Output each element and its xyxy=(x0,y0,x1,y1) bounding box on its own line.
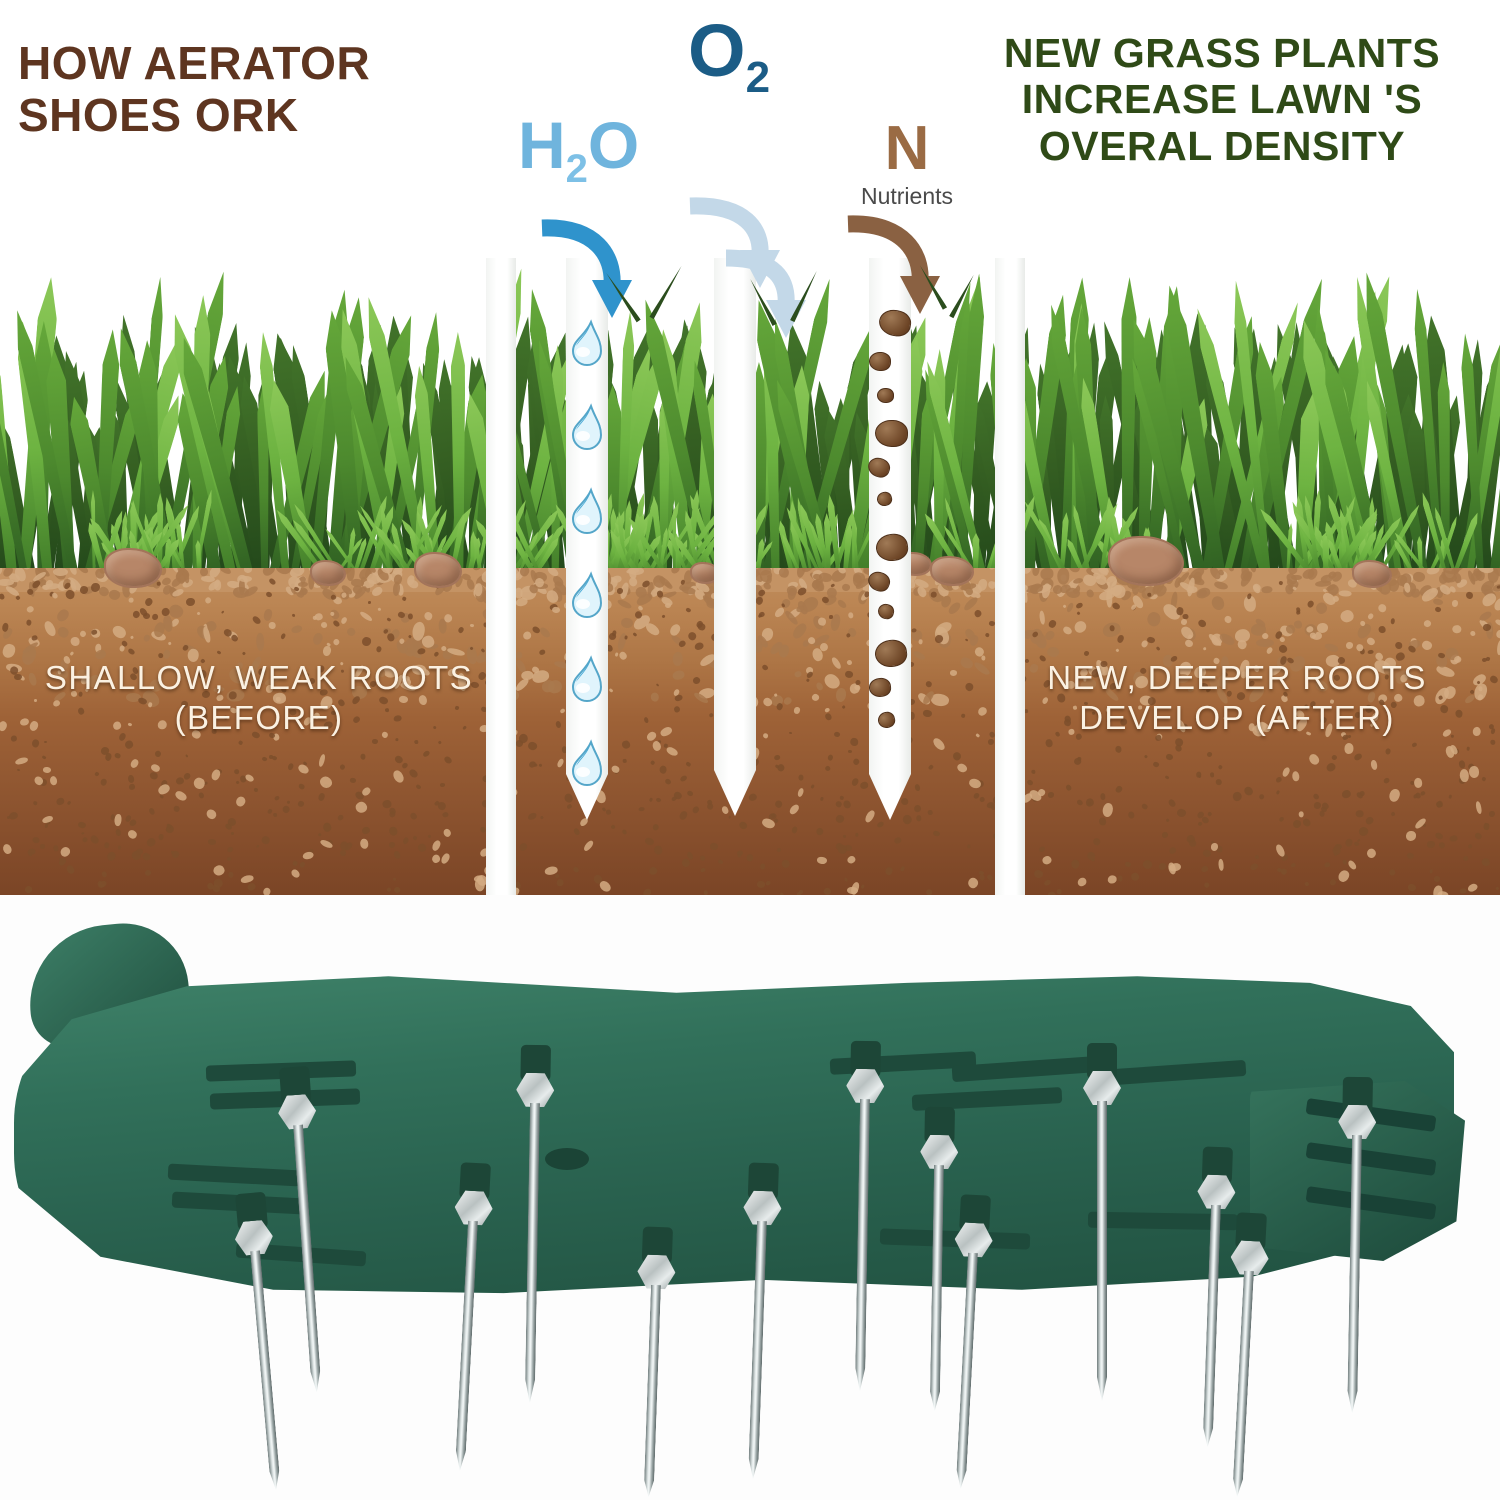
soil-pebble xyxy=(106,851,118,863)
soil-pebble xyxy=(292,614,295,618)
soil-pebble xyxy=(967,844,971,848)
soil-pebble xyxy=(81,832,85,835)
soil-pebble xyxy=(33,800,38,805)
soil-pebble xyxy=(984,632,989,637)
soil-pebble xyxy=(1243,785,1255,797)
soil-pebble xyxy=(417,648,426,655)
soil-pebble xyxy=(1438,842,1446,850)
soil-pebble xyxy=(1100,794,1105,801)
soil-pebble xyxy=(820,796,824,800)
soil-pebble xyxy=(654,845,663,854)
soil-pebble xyxy=(844,878,848,883)
soil-pebble xyxy=(280,632,287,639)
soil-pebble xyxy=(217,650,222,655)
soil-pebble xyxy=(678,809,689,820)
soil-pebble xyxy=(32,739,40,748)
channel-plain-right xyxy=(995,258,1025,895)
soil-pebble xyxy=(41,815,53,824)
soil-pebble xyxy=(1146,611,1162,628)
soil-pebble xyxy=(272,755,278,761)
soil-pebble xyxy=(664,778,672,786)
soil-pebble xyxy=(831,656,843,670)
nutrient-flow-arrow xyxy=(838,212,950,320)
soil-pebble xyxy=(1040,568,1054,580)
soil-pebble xyxy=(1427,841,1435,848)
soil-pebble xyxy=(1336,868,1351,883)
soil-pebble xyxy=(685,607,691,613)
soil-pebble xyxy=(673,670,686,680)
soil-pebble xyxy=(814,681,824,692)
soil-pebble xyxy=(1344,838,1354,848)
soil-pebble xyxy=(847,855,857,865)
soil-pebble xyxy=(1297,607,1301,612)
soil-pebble xyxy=(59,858,62,860)
soil-pebble xyxy=(298,783,305,790)
soil-pebble xyxy=(729,815,732,818)
soil-pebble xyxy=(973,661,991,677)
soil-pebble xyxy=(1261,586,1273,593)
soil-pebble xyxy=(1162,832,1168,838)
soil-pebble xyxy=(811,784,815,789)
soil-pebble xyxy=(1128,812,1135,819)
soil-pebble xyxy=(1046,739,1054,748)
soil-pebble xyxy=(1489,740,1495,746)
soil-pebble xyxy=(1429,869,1432,874)
soil-pebble xyxy=(788,804,800,817)
soil-pebble xyxy=(691,805,700,814)
soil-pebble xyxy=(1278,816,1284,822)
soil-pebble xyxy=(149,772,158,781)
soil-pebble xyxy=(790,621,809,641)
soil-pebble xyxy=(457,626,464,634)
soil-pebble xyxy=(198,792,205,800)
soil-pebble xyxy=(389,842,396,849)
soil-pebble xyxy=(269,622,276,629)
soil-pebble xyxy=(964,639,968,643)
soil-pebble xyxy=(1482,776,1487,781)
soil-pebble xyxy=(1275,775,1283,782)
soil-pebble xyxy=(1406,831,1417,841)
soil-pebble xyxy=(1467,843,1472,849)
soil-pebble xyxy=(1366,636,1376,646)
soil-pebble xyxy=(1420,640,1433,652)
soil-pebble xyxy=(51,592,58,599)
soil-pebble xyxy=(401,762,409,770)
surface-rock xyxy=(414,552,462,588)
nutrient-pellet xyxy=(875,420,909,448)
soil-pebble xyxy=(1317,623,1328,633)
soil-pebble xyxy=(77,821,86,829)
soil-pebble xyxy=(829,615,833,619)
soil-pebble xyxy=(1158,862,1167,871)
surface-rock xyxy=(104,548,162,588)
soil-pebble xyxy=(332,619,340,627)
soil-pebble xyxy=(0,593,5,600)
soil-pebble xyxy=(835,813,846,823)
water-droplet xyxy=(565,738,609,790)
soil-pebble xyxy=(659,765,668,774)
soil-pebble xyxy=(665,746,679,758)
soil-pebble xyxy=(538,649,545,655)
soil-pebble xyxy=(1412,742,1418,747)
aerator-spike xyxy=(624,1226,682,1500)
soil-pebble xyxy=(1496,630,1500,640)
soil-pebble xyxy=(686,790,694,798)
soil-pebble xyxy=(1203,647,1207,651)
soil-pebble xyxy=(142,852,152,861)
soil-pebble xyxy=(621,829,627,835)
soil-pebble xyxy=(144,869,153,877)
soil-pebble xyxy=(1306,599,1315,608)
nutrients-caption: Nutrients xyxy=(822,183,992,210)
soil-pebble xyxy=(1107,875,1117,884)
soil-pebble xyxy=(1085,797,1095,807)
soil-pebble xyxy=(94,771,99,776)
soil-pebble xyxy=(1062,625,1073,636)
soil-pebble xyxy=(675,694,684,702)
soil-pebble xyxy=(655,683,659,687)
soil-pebble xyxy=(1388,869,1396,877)
soil-pebble xyxy=(1115,745,1122,752)
soil-pebble xyxy=(697,622,707,631)
soil-pebble xyxy=(1048,792,1055,798)
soil-pebble xyxy=(1310,632,1316,639)
soil-pebble xyxy=(1279,636,1285,642)
soil-pebble xyxy=(557,878,565,886)
soil-pebble xyxy=(1258,792,1265,799)
soil-pebble xyxy=(312,615,316,619)
soil-pebble xyxy=(1451,600,1457,607)
soil-pebble xyxy=(143,596,153,606)
soil-pebble xyxy=(1368,650,1374,654)
soil-pebble xyxy=(272,813,276,818)
soil-pebble xyxy=(392,850,401,860)
soil-pebble xyxy=(835,687,846,701)
channel-plain-left xyxy=(486,258,516,895)
soil-pebble xyxy=(372,739,378,745)
soil-pebble xyxy=(894,837,903,845)
soil-pebble xyxy=(1494,619,1500,628)
soil-pebble xyxy=(297,800,305,808)
soil-pebble xyxy=(691,676,701,686)
soil-pebble xyxy=(927,809,932,814)
soil-pebble xyxy=(354,799,369,814)
soil-pebble xyxy=(598,879,613,894)
soil-pebble xyxy=(437,740,442,744)
soil-pebble xyxy=(1033,869,1044,880)
soil-pebble xyxy=(1291,770,1300,781)
water-droplet xyxy=(565,318,609,370)
soil-pebble xyxy=(1207,812,1212,817)
soil-pebble xyxy=(311,631,324,645)
spike-shaft xyxy=(1232,1271,1254,1497)
soil-pebble xyxy=(1353,841,1360,847)
soil-pebble xyxy=(1391,812,1396,817)
soil-pebble xyxy=(859,781,868,789)
soil-pebble xyxy=(1038,846,1045,853)
soil-pebble xyxy=(987,873,994,881)
soil-pebble xyxy=(167,641,171,645)
soil-pebble xyxy=(1091,837,1101,846)
soil-pebble xyxy=(1450,834,1458,841)
soil-pebble xyxy=(1,842,13,855)
soil-pebble xyxy=(521,671,533,680)
soil-pebble xyxy=(71,637,80,646)
soil-pebble xyxy=(707,802,714,810)
aerator-spike xyxy=(1078,1043,1126,1409)
soil-pebble xyxy=(297,763,310,776)
soil-pebble xyxy=(42,767,51,774)
soil-pebble xyxy=(644,717,650,724)
soil-pebble xyxy=(1370,760,1377,771)
soil-pebble xyxy=(439,782,444,787)
soil-pebble xyxy=(672,705,680,714)
nitrogen-label: N xyxy=(862,118,952,180)
soil-pebble xyxy=(826,753,833,761)
h2o-o: O xyxy=(588,108,639,182)
soil-pebble xyxy=(442,828,452,838)
nutrient-pellet xyxy=(869,352,892,372)
soil-pebble xyxy=(1280,868,1288,876)
soil-pebble xyxy=(1353,753,1363,762)
soil-pebble xyxy=(843,835,847,839)
soil-pebble xyxy=(976,733,981,738)
soil-pebble xyxy=(282,805,291,814)
soil-pebble xyxy=(251,615,262,626)
soil-pebble xyxy=(1188,839,1197,848)
soil-pebble xyxy=(1473,727,1482,737)
soil-pebble xyxy=(1470,631,1476,637)
soil-pebble xyxy=(387,617,392,621)
soil-pebble xyxy=(1210,772,1214,777)
soil-pebble xyxy=(1339,590,1352,596)
soil-pebble xyxy=(152,614,159,621)
soil-pebble xyxy=(877,820,885,828)
soil-pebble xyxy=(414,739,419,744)
soil-pebble xyxy=(709,712,714,717)
soil-pebble xyxy=(1394,641,1402,649)
soil-pebble xyxy=(652,823,659,831)
soil-pebble xyxy=(774,755,781,761)
soil-pebble xyxy=(1155,646,1160,651)
soil-pebble xyxy=(1433,875,1441,883)
soil-pebble xyxy=(606,809,612,815)
soil-pebble xyxy=(127,648,135,656)
soil-pebble xyxy=(847,887,858,895)
soil-pebble xyxy=(154,750,162,758)
soil-pebble xyxy=(443,811,450,818)
soil-pebble xyxy=(290,868,301,879)
soil-pebble xyxy=(864,809,876,823)
soil-pebble xyxy=(1307,752,1321,766)
surface-rock xyxy=(930,556,974,586)
soil-pebble xyxy=(1484,823,1490,831)
h2o-h: H xyxy=(518,108,566,182)
soil-pebble xyxy=(649,798,653,803)
aerator-spike xyxy=(729,1162,788,1487)
soil-pebble xyxy=(979,796,985,802)
soil-pebble xyxy=(104,842,110,849)
caption-before-roots: SHALLOW, WEAK ROOTS (BEFORE) xyxy=(24,658,494,739)
soil-pebble xyxy=(665,603,671,608)
soil-pebble xyxy=(115,813,123,826)
soil-pebble xyxy=(254,788,258,792)
soil-pebble xyxy=(1110,625,1115,631)
soil-pebble xyxy=(209,768,221,782)
soil-pebble xyxy=(129,598,134,603)
soil-pebble xyxy=(1071,619,1087,635)
soil-pebble xyxy=(1168,847,1177,856)
soil-pebble xyxy=(563,793,573,804)
caption-after-roots: NEW, DEEPER ROOTS DEVELOP (AFTER) xyxy=(1002,658,1472,739)
soil-pebble xyxy=(531,625,542,635)
soil-pebble xyxy=(345,626,356,637)
spike-shaft xyxy=(250,1250,281,1490)
soil-pebble xyxy=(1329,879,1336,886)
soil-pebble xyxy=(1319,810,1325,816)
soil-pebble xyxy=(916,815,921,821)
soil-pebble xyxy=(1115,784,1124,793)
soil-pebble xyxy=(1144,755,1149,760)
soil-pebble xyxy=(1384,748,1391,755)
soil-pebble xyxy=(1207,751,1213,757)
soil-pebble xyxy=(540,816,544,820)
soil-pebble xyxy=(843,846,847,850)
soil-pebble xyxy=(774,800,783,810)
soil-pebble xyxy=(378,607,382,611)
soil-pebble xyxy=(339,764,346,771)
soil-pebble xyxy=(1041,854,1052,865)
soil-pebble xyxy=(94,568,105,579)
spike-shaft xyxy=(956,1253,978,1489)
soil-pebble xyxy=(322,646,331,657)
soil-pebble xyxy=(899,866,905,872)
soil-pebble xyxy=(825,712,833,721)
aerator-spike xyxy=(836,1041,890,1400)
soil-pebble xyxy=(825,707,831,712)
spike-shaft xyxy=(1097,1101,1107,1401)
soil-pebble xyxy=(228,871,234,877)
surface-rock xyxy=(1352,560,1392,588)
soil-pebble xyxy=(620,617,634,630)
soil-pebble xyxy=(710,843,719,852)
soil-pebble xyxy=(1342,859,1347,865)
soil-pebble xyxy=(1412,793,1417,798)
soil-pebble xyxy=(782,696,793,707)
soil-pebble xyxy=(157,783,172,796)
soil-pebble xyxy=(361,636,372,647)
soil-pebble xyxy=(230,832,234,836)
soil-pebble xyxy=(1076,799,1083,806)
soil-pebble xyxy=(111,624,128,640)
soil-pebble xyxy=(206,882,213,890)
soil-pebble xyxy=(234,794,247,807)
soil-pebble xyxy=(261,835,270,844)
soil-pebble xyxy=(1072,757,1082,767)
soil-pebble xyxy=(1496,640,1500,656)
soil-pebble xyxy=(1434,606,1441,613)
soil-pebble xyxy=(912,649,926,661)
soil-pebble xyxy=(387,887,392,892)
soil-pebble xyxy=(56,625,70,639)
soil-pebble xyxy=(246,881,257,892)
soil-pebble xyxy=(1347,859,1358,871)
soil-pebble xyxy=(1390,618,1395,624)
soil-pebble xyxy=(642,887,653,895)
soil-pebble xyxy=(1141,803,1149,811)
soil-pebble xyxy=(212,864,226,878)
soil-pebble xyxy=(1323,861,1330,868)
soil-pebble xyxy=(850,737,859,746)
soil-pebble xyxy=(1482,658,1487,662)
soil-pebble xyxy=(1475,801,1483,815)
soil-pebble xyxy=(928,764,934,770)
soil-pebble xyxy=(718,859,725,866)
soil-pebble xyxy=(981,656,985,661)
soil-pebble xyxy=(1164,775,1169,780)
soil-pebble xyxy=(749,793,758,801)
soil-pebble xyxy=(66,800,71,805)
soil-pebble xyxy=(655,797,661,803)
water-droplet xyxy=(565,654,609,706)
soil-pebble xyxy=(1292,819,1301,829)
aerator-spike xyxy=(506,1045,560,1412)
soil-pebble xyxy=(430,853,441,864)
soil-pebble xyxy=(1356,810,1365,818)
soil-pebble xyxy=(811,692,821,702)
soil-pebble xyxy=(1345,641,1354,650)
soil-pebble xyxy=(824,765,831,772)
soil-pebble xyxy=(648,865,659,876)
soil-pebble xyxy=(438,802,447,810)
soil-pebble xyxy=(205,808,218,821)
soil-pebble xyxy=(244,773,255,783)
soil-pebble xyxy=(10,735,17,741)
soil-pebble xyxy=(977,705,989,717)
soil-pebble xyxy=(951,751,962,762)
soil-pebble xyxy=(687,630,698,641)
soil-pebble xyxy=(1365,815,1375,825)
soil-pebble xyxy=(0,720,9,732)
soil-pebble xyxy=(1043,879,1051,887)
soil-pebble xyxy=(55,607,71,623)
soil-pebble xyxy=(534,763,538,767)
soil-pebble xyxy=(263,608,273,621)
soil-pebble xyxy=(1298,812,1304,819)
soil-pebble xyxy=(331,637,340,646)
soil-pebble xyxy=(1065,784,1073,792)
soil-pebble xyxy=(610,824,616,830)
soil-pebble xyxy=(922,709,932,717)
soil-pebble xyxy=(129,784,135,790)
spike-shaft xyxy=(1347,1135,1362,1413)
soil-pebble xyxy=(423,611,434,622)
soil-pebble xyxy=(932,830,940,837)
soil-pebble xyxy=(925,680,933,687)
soil-pebble xyxy=(1495,886,1499,890)
soil-pebble xyxy=(394,878,397,881)
soil-pebble xyxy=(402,596,407,601)
soil-pebble xyxy=(148,807,156,816)
soil-pebble xyxy=(361,826,371,835)
soil-pebble xyxy=(1339,608,1356,625)
soil-pebble xyxy=(1290,862,1296,868)
o2-o: O xyxy=(688,9,746,92)
soil-pebble xyxy=(1196,772,1201,778)
soil-pebble xyxy=(1465,591,1473,599)
page-title-right: NEW GRASS PLANTS INCREASE LAWN 'S OVERAL… xyxy=(962,30,1482,169)
soil-pebble xyxy=(185,754,189,758)
